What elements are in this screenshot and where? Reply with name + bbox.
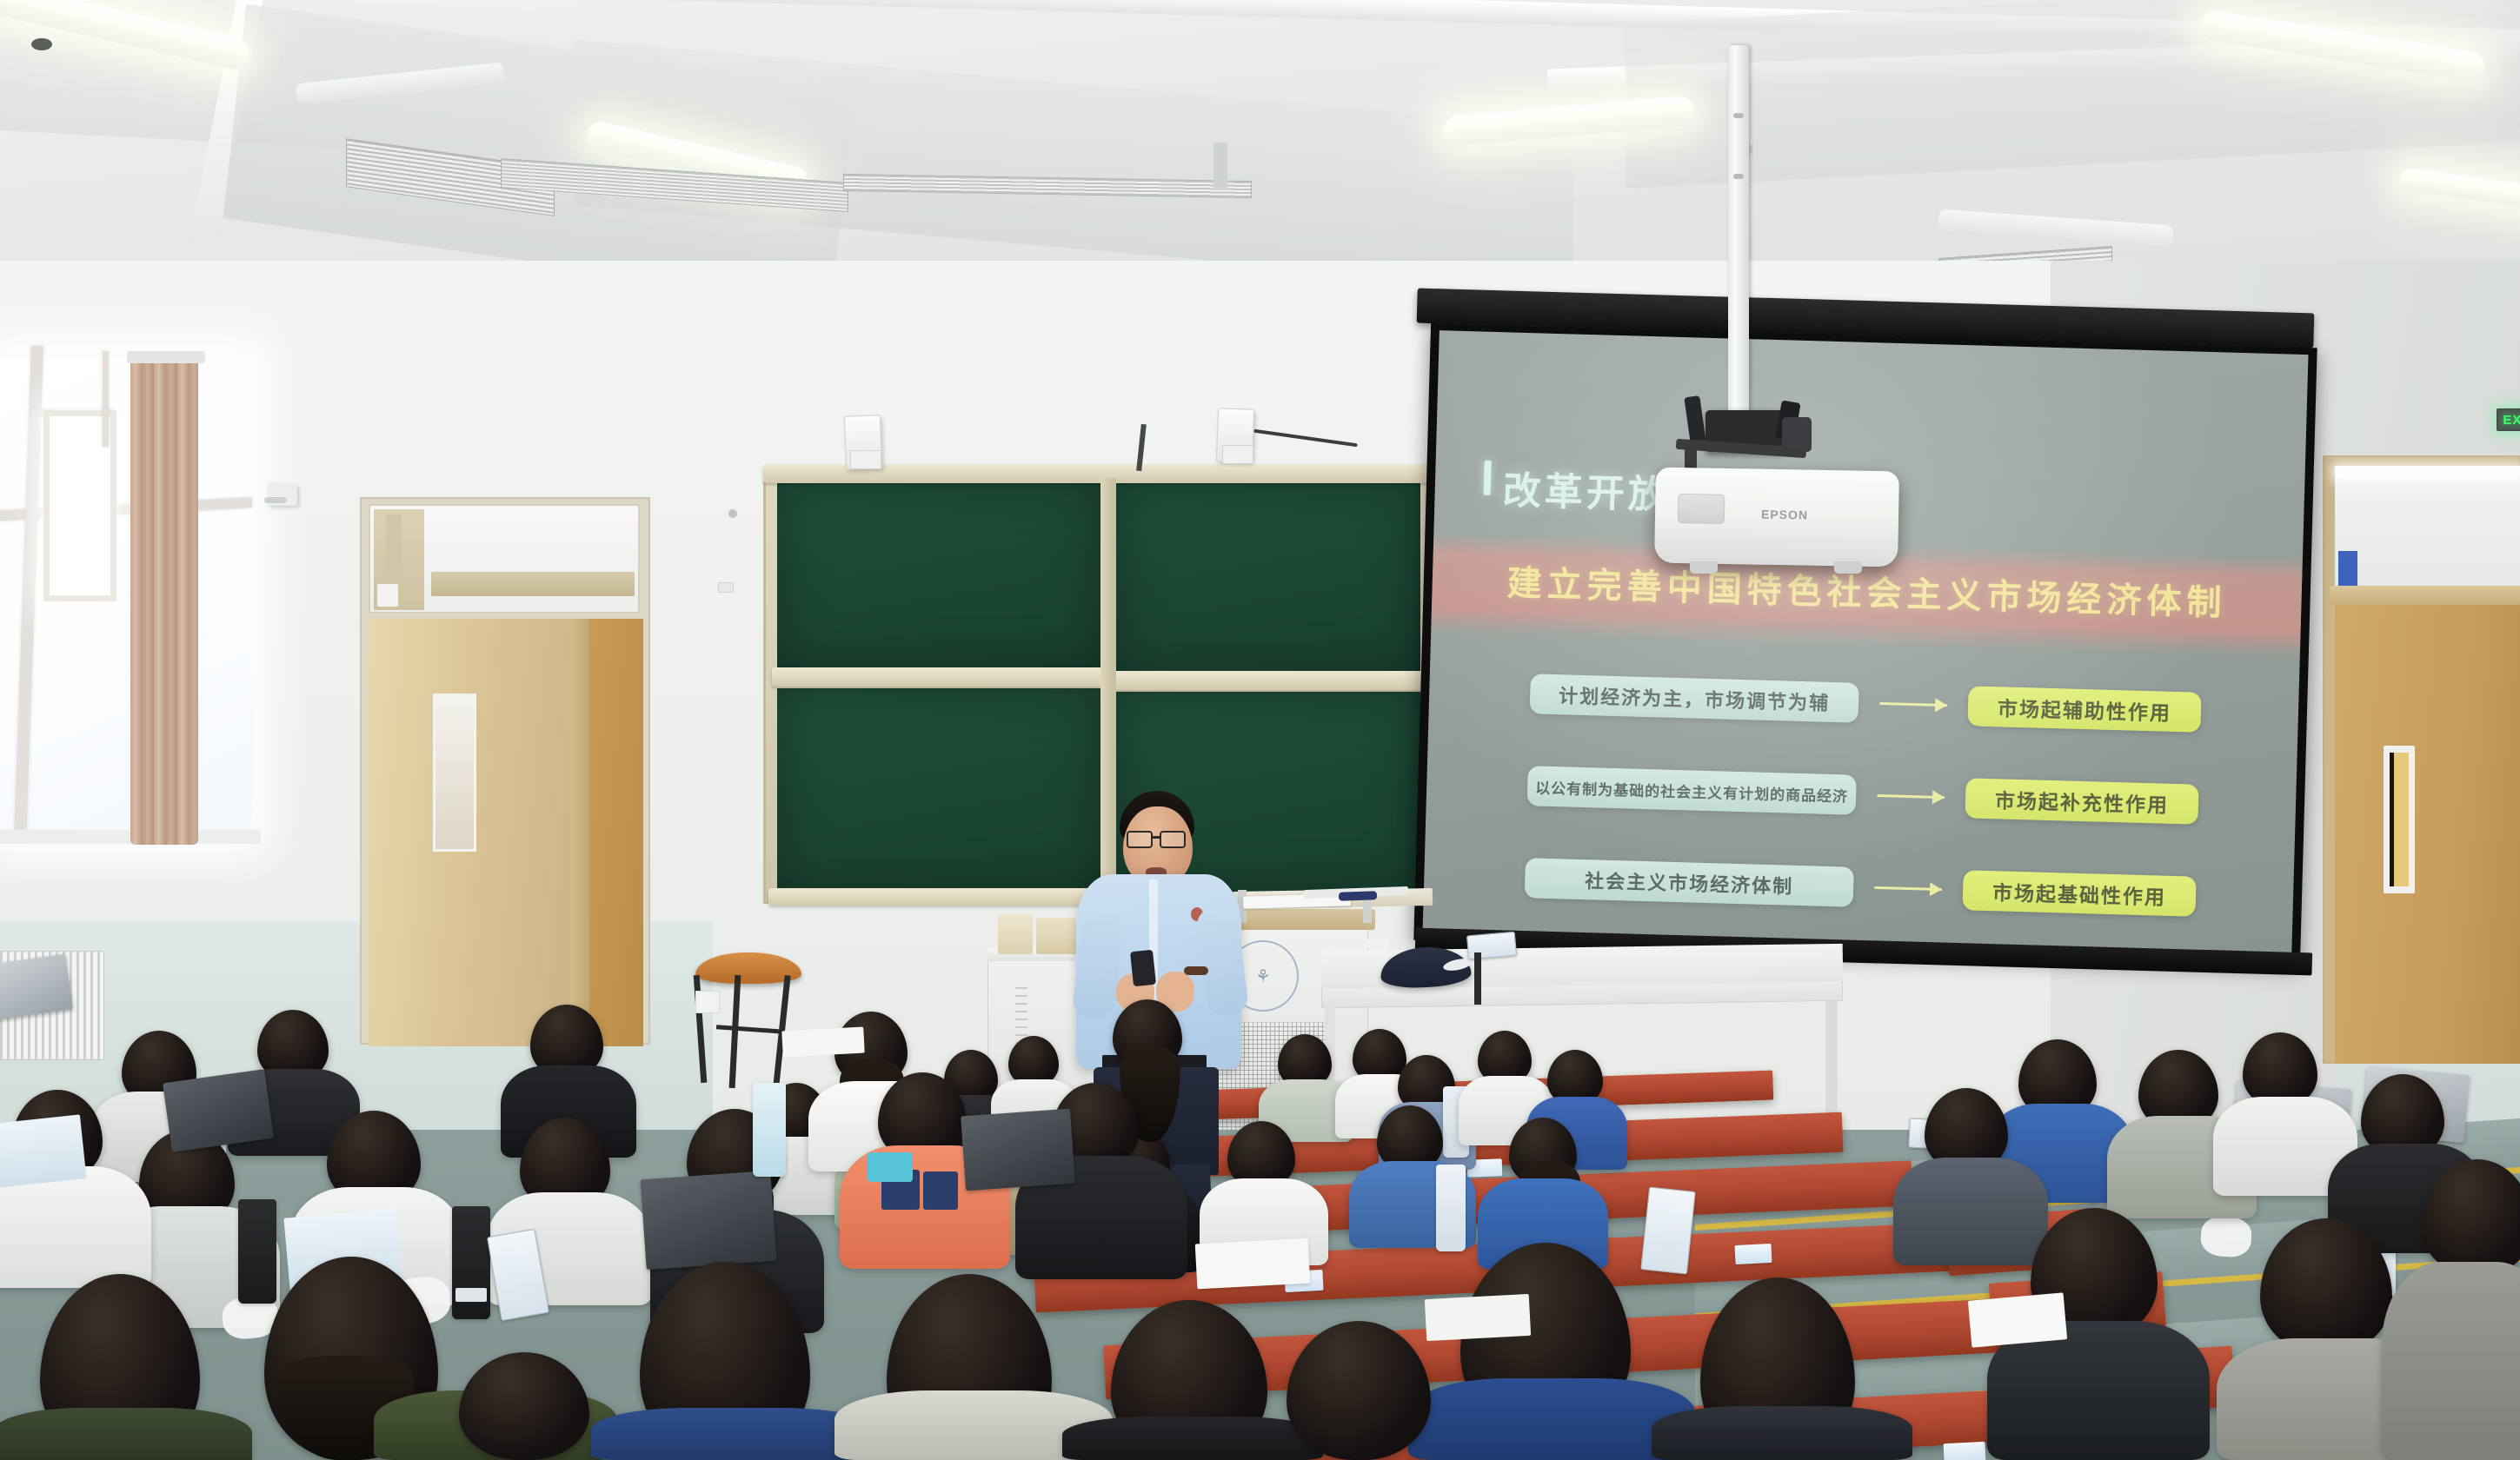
hoodie-letter [923, 1171, 958, 1210]
slide-row: 社会主义市场经济体制 市场起基础性作用 [1525, 858, 2221, 917]
phone[interactable] [1640, 1186, 1696, 1274]
pole-detail [1733, 174, 1744, 179]
projector-brand-label: EPSON [1761, 508, 1808, 522]
seat-tag [1943, 1442, 1985, 1460]
presenter-remote[interactable] [1130, 950, 1156, 986]
wall-socket [850, 450, 881, 469]
laptop[interactable] [163, 1069, 274, 1152]
doorway-opening [589, 619, 643, 1046]
eraser-box [998, 914, 1033, 954]
projector-foot [1834, 561, 1862, 574]
door-jamb [570, 619, 589, 1046]
duct-hanger [1213, 143, 1227, 188]
slide-row: 计划经济为主，市场调节为辅 市场起辅助性作用 [1530, 674, 2226, 733]
wristwatch [1184, 966, 1208, 975]
student-body [1893, 1158, 2048, 1265]
paper-sheet [1968, 1292, 2067, 1347]
face-mask [2199, 1215, 2252, 1258]
projection-screen-frame: 改革开放 线 建立完善中国特色社会主义市场经济体制 计划经济为主，市场调节为辅 … [1413, 323, 2317, 965]
student-body [0, 1408, 252, 1460]
hoodie-graphic [868, 1152, 913, 1182]
door-head [2330, 586, 2520, 605]
door-vision-panel [433, 693, 476, 852]
slide-heading-tick [1484, 461, 1492, 495]
blackboard-panel [777, 688, 1100, 890]
thermos-flask [238, 1199, 276, 1304]
laptop[interactable] [961, 1109, 1075, 1191]
student-body [2382, 1262, 2520, 1460]
small-device [1366, 937, 1389, 951]
ceiling-fitting [31, 38, 52, 50]
student-body [1652, 1406, 1912, 1460]
blackboard-divider [1100, 478, 1116, 904]
slide-row: 以公有制为基础的社会主义有计划的商品经济 市场起补充性作用 [1527, 766, 2224, 825]
projector-pole [1728, 45, 1749, 419]
chalk-rail [772, 667, 1104, 687]
slide-heading: 改革开放 [1502, 459, 1671, 519]
exit-label: EXIT [2503, 413, 2520, 428]
water-bottle [753, 1083, 786, 1177]
phone-tripod [1474, 952, 1481, 1005]
projector-lens [1678, 494, 1725, 524]
thermos-flask [452, 1206, 490, 1319]
curtain [130, 358, 198, 845]
glasses-icon [1127, 831, 1153, 848]
curtain-rail [127, 351, 205, 363]
transom-highlight [2335, 466, 2520, 478]
arrow-icon [1879, 694, 1948, 713]
seat-tag [1734, 1244, 1772, 1264]
pen [1339, 891, 1377, 901]
projector-body: EPSON [1654, 468, 1899, 567]
wall-bracket-arm [264, 497, 287, 503]
wall-socket [1222, 445, 1253, 464]
laptop-screen [0, 1114, 87, 1188]
emblem-glyph: ⚘ [1255, 966, 1271, 986]
arrow-icon [1874, 879, 1943, 898]
wall-screw [728, 509, 737, 518]
exit-sign: EXIT [2497, 408, 2520, 431]
role-pill: 市场起辅助性作用 [1967, 686, 2201, 732]
door-closer-box [377, 584, 398, 607]
door-vision-panel-right [2390, 753, 2409, 886]
stage-pill: 计划经济为主，市场调节为辅 [1530, 674, 1859, 723]
projector-foot [1690, 561, 1718, 574]
paper-sheet [1195, 1238, 1311, 1290]
chalk-rail [1111, 671, 1426, 690]
stage-pill: 社会主义市场经济体制 [1525, 858, 1854, 907]
door-leaf-right[interactable] [2335, 605, 2520, 1064]
transom-poster [2338, 551, 2357, 586]
laptop[interactable] [641, 1171, 777, 1270]
window-mullion [103, 351, 109, 447]
chalk-rail [768, 888, 1106, 906]
door-transom-right [2335, 466, 2520, 586]
paper-sheet [781, 1027, 864, 1058]
role-pill: 市场起基础性作用 [1962, 870, 2196, 916]
lecture-hall-photo: EXIT 改革开放 线 建立完善中国特色社会主义市场经济体制 计划经济为主，市场… [0, 0, 2520, 1460]
wall-plate [718, 582, 734, 593]
blackboard-panel [1114, 483, 1420, 674]
wall-switch[interactable] [695, 991, 720, 1013]
stage-pill: 以公有制为基础的社会主义有计划的商品经济 [1527, 766, 1857, 815]
student-body [1062, 1417, 1323, 1460]
transom-detail [386, 514, 402, 579]
flask-label [455, 1288, 487, 1302]
water-bottle [1436, 1165, 1466, 1251]
arrow-icon [1877, 786, 1945, 806]
glasses-bridge [1153, 836, 1161, 839]
pole-detail [1733, 113, 1744, 118]
glasses-icon [1160, 831, 1186, 848]
role-pill: 市场起补充性作用 [1965, 778, 2198, 824]
projection-screen: 改革开放 线 建立完善中国特色社会主义市场经济体制 计划经济为主，市场调节为辅 … [1423, 330, 2309, 958]
paper-sheet [1425, 1294, 1531, 1341]
blackboard-panel [777, 483, 1100, 670]
door-closer-arm [431, 572, 635, 596]
